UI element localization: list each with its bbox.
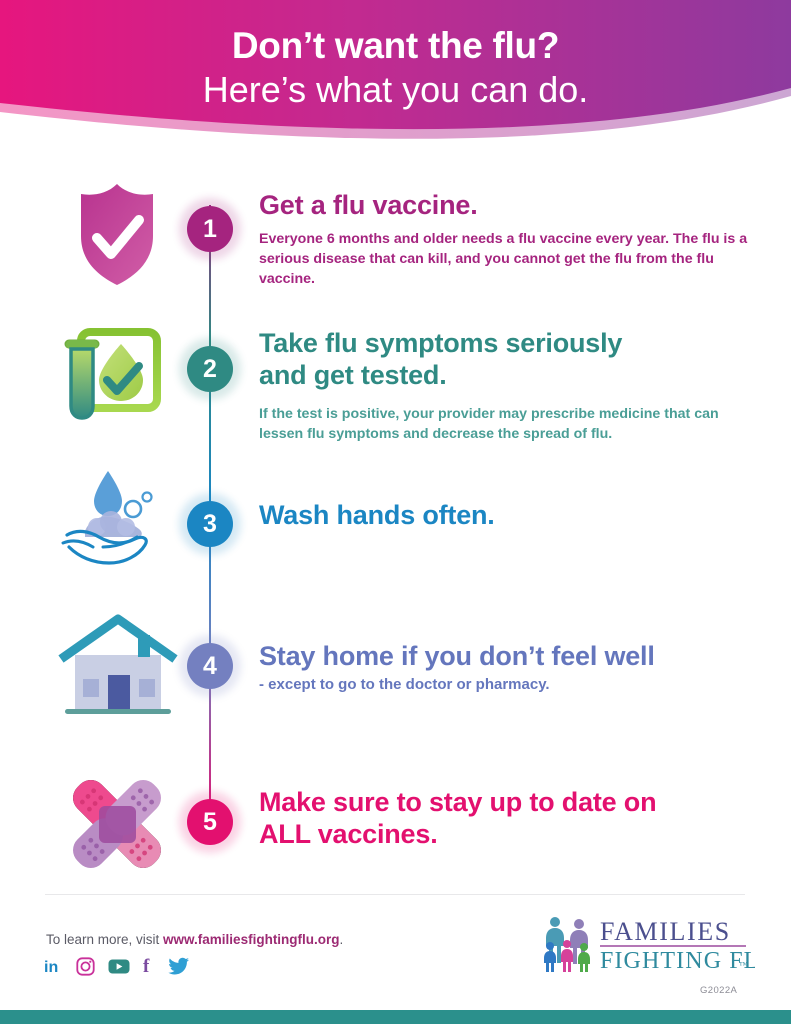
step-heading-3: Wash hands often. [259, 500, 759, 532]
step-badge-2: 2 [187, 346, 233, 392]
step-body-3: Wash hands often. [259, 500, 759, 532]
step-badge-4: 4 [187, 643, 233, 689]
document-code: G2022A [700, 985, 737, 996]
header-text-group: Don’t want the flu? Here’s what you can … [0, 0, 791, 109]
facebook-icon[interactable]: f [143, 956, 155, 981]
website-link[interactable]: www.familiesfightingflu.org [163, 932, 340, 947]
step-description-4: - except to go to the doctor or pharmacy… [259, 675, 759, 695]
step-badge-1: 1 [187, 206, 233, 252]
svg-text:f: f [143, 956, 150, 976]
learn-more-suffix: . [340, 932, 344, 947]
poster-root: Don’t want the flu? Here’s what you can … [0, 0, 791, 1024]
learn-more-prefix: To learn more, visit [46, 932, 163, 947]
step-description-1: Everyone 6 months and older needs a flu … [259, 229, 759, 289]
shield-check-icon [55, 178, 180, 293]
youtube-icon[interactable] [108, 958, 130, 980]
handwashing-icon [55, 465, 180, 575]
logo-trademark: ™ [739, 960, 748, 970]
twitter-icon[interactable] [168, 957, 190, 981]
learn-more-text: To learn more, visit www.familiesfightin… [46, 932, 343, 947]
bottom-accent-bar [0, 1010, 791, 1024]
step-badge-5: 5 [187, 799, 233, 845]
logo-text-families: FAMILIES [600, 917, 731, 946]
header-band: Don’t want the flu? Here’s what you can … [0, 0, 791, 145]
step-badge-3: 3 [187, 501, 233, 547]
instagram-icon[interactable] [76, 957, 95, 981]
step-heading-2: Take flu symptoms seriously and get test… [259, 328, 659, 392]
step-description-2: If the test is positive, your provider m… [259, 404, 759, 444]
step-body-5: Make sure to stay up to date on ALL vacc… [259, 787, 759, 851]
family-figures-mark [544, 917, 590, 972]
footer-divider [45, 894, 745, 895]
page-title-line1: Don’t want the flu? [0, 27, 791, 66]
step-heading-4: Stay home if you don’t feel well [259, 641, 759, 673]
crossed-bandages-icon [55, 769, 180, 879]
step-body-1: Get a flu vaccine. Everyone 6 months and… [259, 190, 759, 289]
svg-text:in: in [44, 959, 58, 976]
page-title-line2: Here’s what you can do. [0, 71, 791, 109]
social-links: in f [44, 956, 190, 981]
linkedin-icon[interactable]: in [44, 957, 63, 981]
families-fighting-flu-logo: FAMILIES FIGHTING FLU ™ [543, 913, 755, 975]
test-tube-droplet-check-icon [55, 318, 180, 433]
step-heading-5: Make sure to stay up to date on ALL vacc… [259, 787, 709, 851]
house-icon [55, 613, 180, 718]
step-body-4: Stay home if you don’t feel well - excep… [259, 641, 759, 695]
logo-text-fighting-flu: FIGHTING FLU [600, 948, 755, 974]
step-heading-1: Get a flu vaccine. [259, 190, 759, 222]
step-body-2: Take flu symptoms seriously and get test… [259, 328, 759, 444]
